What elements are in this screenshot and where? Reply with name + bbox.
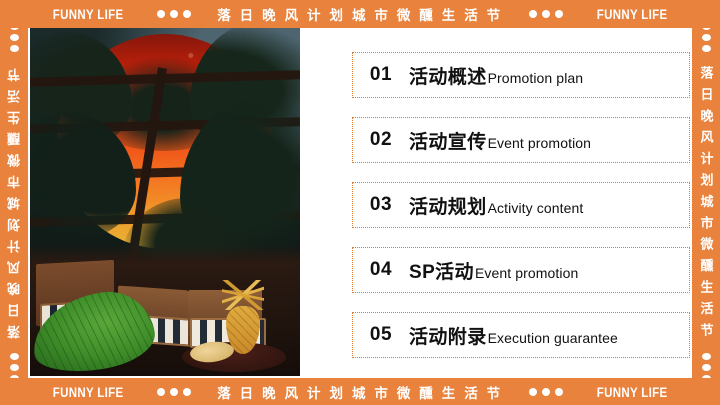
banner-title-bottom: 落 日 晚 风 计 划 城 市 微 醺 生 活 节 bbox=[217, 382, 503, 402]
left-rail: 落 日 晚 风 计 划 城 市 微 醺 生 活 节 bbox=[0, 0, 28, 405]
agenda-item-03[interactable]: 03 活动规划 Activity content bbox=[352, 182, 690, 228]
agenda-label-cn: 活动概述 bbox=[409, 62, 487, 89]
agenda-label: 活动宣传 Event promotion bbox=[409, 127, 591, 154]
brand-left: FUNNY LIFE bbox=[53, 6, 124, 22]
three-dots-icon-right bbox=[529, 10, 563, 18]
agenda-number: 03 bbox=[353, 194, 409, 216]
right-rail-title: 落 日 晚 风 计 划 城 市 微 醺 生 活 节 bbox=[697, 66, 716, 338]
tropical-sunset-photo bbox=[30, 28, 300, 376]
agenda-item-01[interactable]: 01 活动概述 Promotion plan bbox=[352, 52, 690, 98]
three-dots-icon-left bbox=[157, 10, 191, 18]
left-rail-title: 落 日 晚 风 计 划 城 市 微 醺 生 活 节 bbox=[5, 66, 24, 338]
three-dots-icon-right-bottom bbox=[529, 388, 563, 396]
agenda-label: SP活动 Event promotion bbox=[409, 257, 578, 284]
agenda-label-en: Promotion plan bbox=[488, 70, 584, 86]
right-rail: 落 日 晚 风 计 划 城 市 微 醺 生 活 节 bbox=[692, 0, 720, 405]
slide-root: FUNNY LIFE 落 日 晚 风 计 划 城 市 微 醺 生 活 节 FUN… bbox=[0, 0, 720, 405]
agenda-label-en: Activity content bbox=[488, 200, 584, 216]
bottom-banner: FUNNY LIFE 落 日 晚 风 计 划 城 市 微 醺 生 活 节 FUN… bbox=[0, 378, 720, 405]
agenda-label-cn: 活动宣传 bbox=[409, 127, 487, 154]
agenda-number: 01 bbox=[353, 64, 409, 86]
top-banner: FUNNY LIFE 落 日 晚 风 计 划 城 市 微 醺 生 活 节 FUN… bbox=[0, 0, 720, 28]
banner-title-top: 落 日 晚 风 计 划 城 市 微 醺 生 活 节 bbox=[217, 4, 503, 24]
agenda-label-en: Execution guarantee bbox=[488, 330, 618, 346]
agenda-label-cn: 活动附录 bbox=[409, 322, 487, 349]
agenda-label-cn: 活动规划 bbox=[409, 192, 487, 219]
agenda-number: 05 bbox=[353, 324, 409, 346]
agenda-item-02[interactable]: 02 活动宣传 Event promotion bbox=[352, 117, 690, 163]
agenda-label-en: Event promotion bbox=[475, 265, 578, 281]
agenda-label-en: Event promotion bbox=[488, 135, 591, 151]
agenda-label: 活动概述 Promotion plan bbox=[409, 62, 583, 89]
agenda-item-04[interactable]: 04 SP活动 Event promotion bbox=[352, 247, 690, 293]
agenda-label-cn: SP活动 bbox=[409, 257, 474, 284]
agenda-list: 01 活动概述 Promotion plan 02 活动宣传 Event pro… bbox=[352, 52, 690, 358]
brand-right-bottom: FUNNY LIFE bbox=[597, 384, 668, 400]
agenda-item-05[interactable]: 05 活动附录 Execution guarantee bbox=[352, 312, 690, 358]
agenda-number: 04 bbox=[353, 259, 409, 281]
agenda-number: 02 bbox=[353, 129, 409, 151]
brand-left-bottom: FUNNY LIFE bbox=[53, 384, 124, 400]
agenda-label: 活动附录 Execution guarantee bbox=[409, 322, 618, 349]
agenda-label: 活动规划 Activity content bbox=[409, 192, 583, 219]
three-dots-icon-left-bottom bbox=[157, 388, 191, 396]
brand-right: FUNNY LIFE bbox=[597, 6, 668, 22]
